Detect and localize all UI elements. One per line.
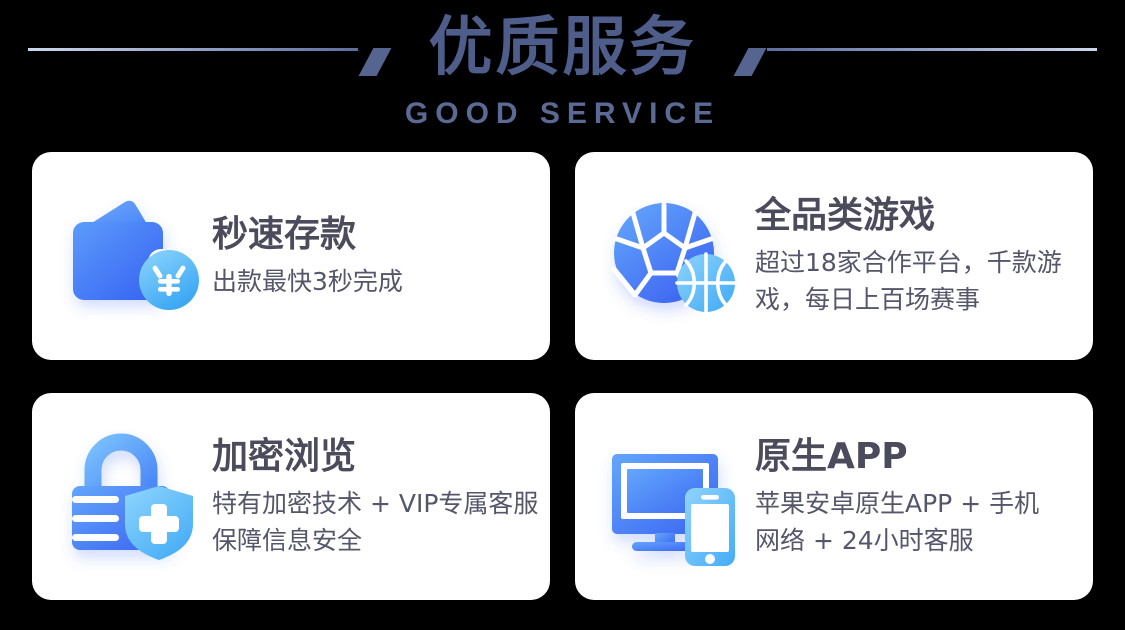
card-description: 特有加密技术 + VIP专属客服保障信息安全 (212, 485, 542, 559)
soccer-basketball-icon-svg (606, 191, 746, 321)
soccer-basketball-icon (601, 186, 751, 326)
feature-card-deposit[interactable]: 秒速存款 出款最快3秒完成 (32, 152, 550, 360)
card-description: 苹果安卓原生APP + 手机网络 + 24小时客服 (755, 485, 1055, 559)
wallet-yen-icon-svg (63, 191, 203, 321)
deposit-text-block: 秒速存款 出款最快3秒完成 (208, 213, 550, 300)
encryption-text-block: 加密浏览 特有加密技术 + VIP专属客服保障信息安全 (208, 435, 550, 559)
monitor-phone-icon (601, 427, 751, 567)
feature-card-native-app[interactable]: 原生APP 苹果安卓原生APP + 手机网络 + 24小时客服 (575, 393, 1093, 600)
card-title: 加密浏览 (212, 435, 550, 479)
feature-card-grid: 秒速存款 出款最快3秒完成 (32, 152, 1093, 600)
monitor-phone-icon-svg (606, 432, 746, 562)
games-text-block: 全品类游戏 超过18家合作平台，千款游戏，每日上百场赛事 (751, 194, 1093, 318)
page-title: 优质服务 (0, 6, 1125, 90)
card-description: 超过18家合作平台，千款游戏，每日上百场赛事 (755, 244, 1085, 318)
feature-card-encryption[interactable]: 加密浏览 特有加密技术 + VIP专属客服保障信息安全 (32, 393, 550, 600)
card-title: 秒速存款 (212, 213, 550, 257)
lock-shield-icon-svg (63, 432, 203, 562)
feature-card-games[interactable]: 全品类游戏 超过18家合作平台，千款游戏，每日上百场赛事 (575, 152, 1093, 360)
wallet-yen-icon (58, 186, 208, 326)
card-title: 原生APP (755, 435, 1093, 479)
lock-shield-icon (58, 427, 208, 567)
card-title: 全品类游戏 (755, 194, 1093, 238)
card-description: 出款最快3秒完成 (212, 263, 542, 300)
page-header: 优质服务 GOOD SERVICE (0, 0, 1125, 148)
native-app-text-block: 原生APP 苹果安卓原生APP + 手机网络 + 24小时客服 (751, 435, 1093, 559)
page-subtitle: GOOD SERVICE (0, 96, 1125, 132)
